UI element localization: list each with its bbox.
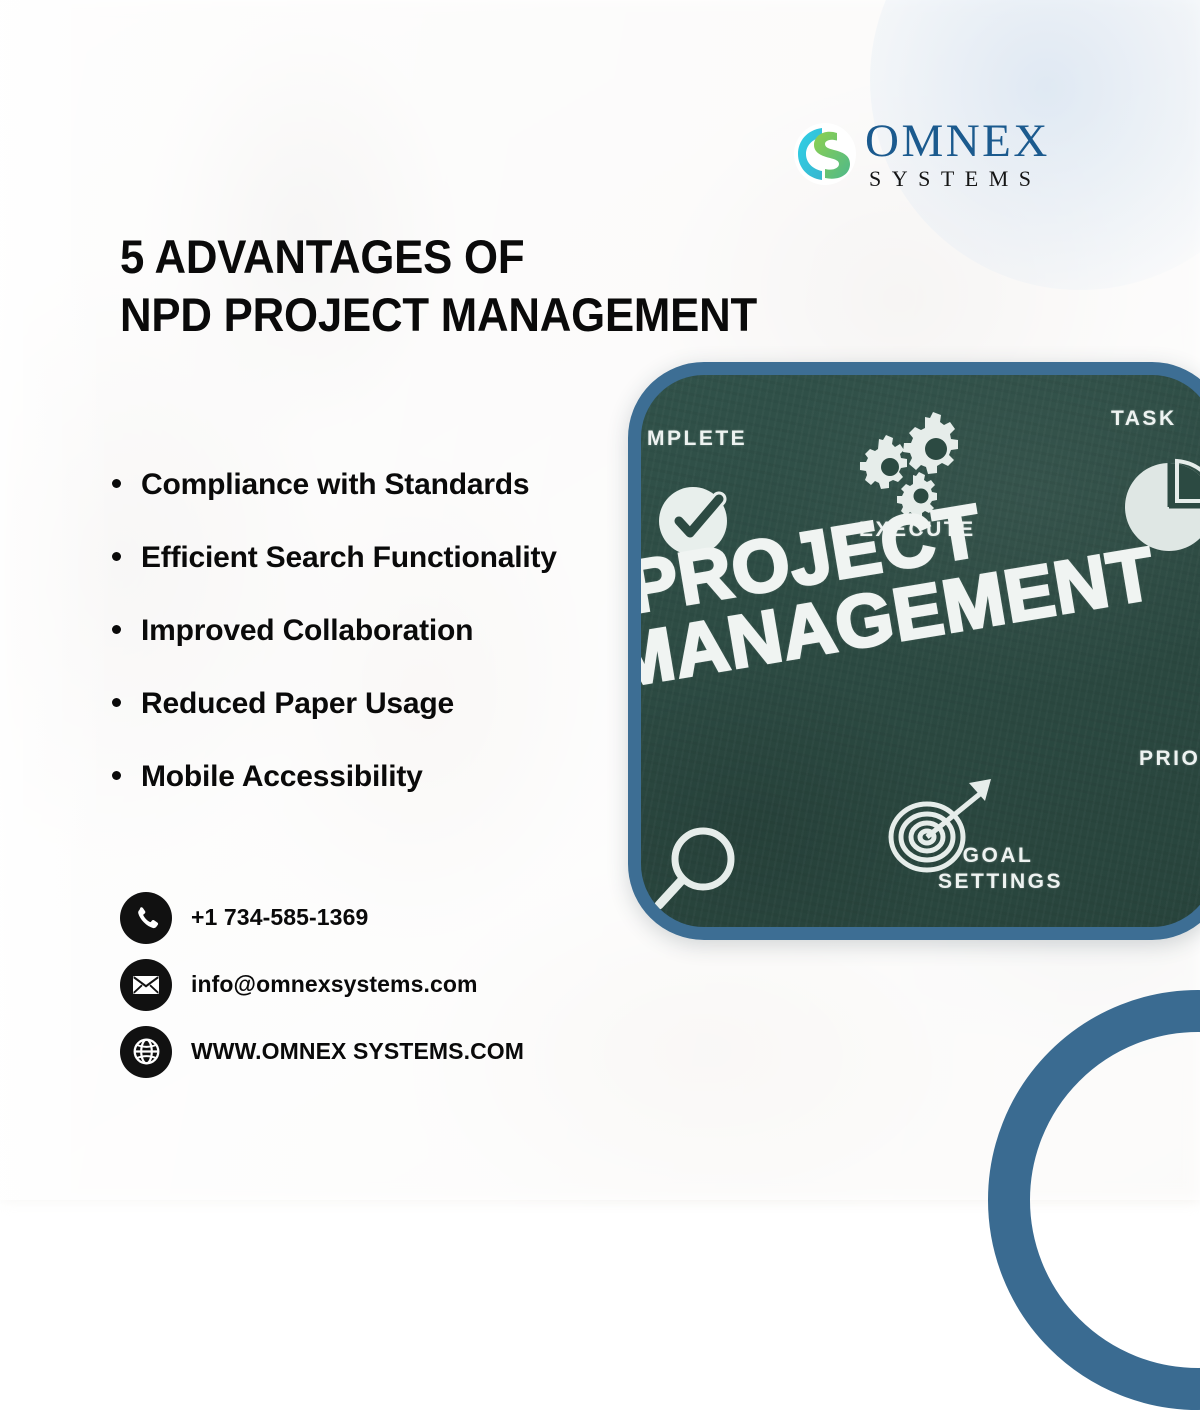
chalk-label-priority: PRIO [1139,747,1200,771]
contact-email-row[interactable]: info@omnexsystems.com [120,951,524,1018]
advantage-label: Compliance with Standards [141,468,529,502]
background-left-fade [0,0,120,1200]
globe-icon [120,1026,172,1078]
chalk-label-task: TASK [1111,407,1177,431]
chalk-label-complete: MPLETE [647,427,747,451]
advantage-label: Mobile Accessibility [141,760,423,794]
list-item: Mobile Accessibility [112,760,642,833]
contact-phone-row[interactable]: +1 734-585-1369 [120,884,524,951]
brand-logo: OMNEX SYSTEMS [792,118,1050,190]
page-title: 5 ADVANTAGES OF NPD PROJECT MANAGEMENT [120,228,757,345]
envelope-icon [120,959,172,1011]
advantage-label: Efficient Search Functionality [141,541,557,575]
advantages-list: Compliance with Standards Efficient Sear… [112,468,642,833]
logo-primary-text: OMNEX [865,118,1050,165]
logo-secondary-text: SYSTEMS [865,168,1050,190]
bullet-dot-icon [112,698,121,707]
magnifier-icon [651,815,751,920]
list-item: Improved Collaboration [112,614,642,687]
bullet-dot-icon [112,552,121,561]
advantage-label: Improved Collaboration [141,614,473,648]
headline-line-1: 5 ADVANTAGES OF [120,228,757,286]
logo-wordmark: OMNEX SYSTEMS [865,118,1050,190]
omnex-circular-emblem-icon [792,121,858,187]
contact-block: +1 734-585-1369 info@omnexsystems.com WW… [120,884,524,1085]
target-arrow-icon [869,775,1009,900]
phone-icon [120,892,172,944]
bullet-dot-icon [112,479,121,488]
phone-number: +1 734-585-1369 [191,904,368,931]
bullet-dot-icon [112,771,121,780]
headline-line-2: NPD PROJECT MANAGEMENT [120,286,757,344]
list-item: Compliance with Standards [112,468,642,541]
list-item: Efficient Search Functionality [112,541,642,614]
list-item: Reduced Paper Usage [112,687,642,760]
chalkboard-image: MPLETE EXECUTE TASK PRIO GOAL SETTINGS [628,362,1200,940]
email-address: info@omnexsystems.com [191,971,478,998]
website-url: WWW.OMNEX SYSTEMS.COM [191,1038,524,1065]
bullet-dot-icon [112,625,121,634]
advantage-label: Reduced Paper Usage [141,687,454,721]
contact-website-row[interactable]: WWW.OMNEX SYSTEMS.COM [120,1018,524,1085]
